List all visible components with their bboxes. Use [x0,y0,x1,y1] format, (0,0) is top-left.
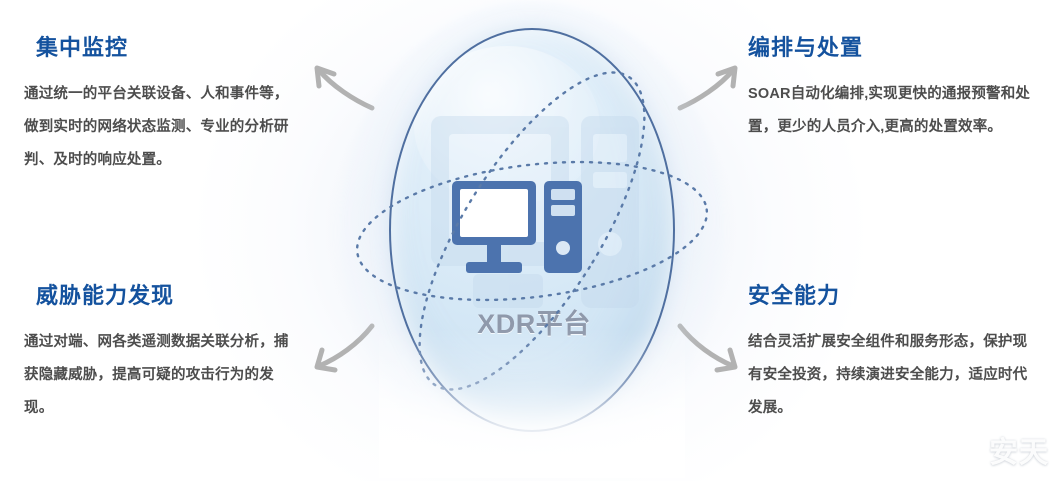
sphere-body: XDR平台 [389,28,675,432]
xdr-platform-label: XDR平台 [391,302,675,341]
panel-orchestration-and-response: 编排与处置 SOAR自动化编排,实现更快的通报预警和处置，更少的人员介入,更高的… [748,30,1038,144]
panel-title-security-capability: 安全能力 [748,278,1040,310]
panel-title-orchestration-and-response: 编排与处置 [748,30,1038,62]
diagram-canvas: 集中监控 通过统一的平台关联设备、人和事件等，做到实时的网络状态监测、专业的分析… [0,0,1063,481]
panel-title-centralized-monitoring: 集中监控 [36,30,299,62]
xdr-platform-sphere: XDR平台 [389,28,675,468]
panel-body-threat-detection-capability: 通过对端、网各类遥测数据关联分析，捕获隐藏威胁，提高可疑的攻击行为的发现。 [24,326,299,425]
panel-body-security-capability: 结合灵活扩展安全组件和服务形态，保护现有安全投资，持续演进安全能力，适应时代发展… [748,326,1040,425]
watermark-text: 安天 [989,429,1049,471]
computer-monitor-and-tower-icon [451,180,583,288]
panel-body-orchestration-and-response: SOAR自动化编排,实现更快的通报预警和处置，更少的人员介入,更高的处置效率。 [748,78,1038,144]
weibo-logo-icon [943,433,983,467]
weibo-watermark: 安天 [943,429,1049,471]
curved-arrow-left-icon-top [292,48,376,112]
panel-security-capability: 安全能力 结合灵活扩展安全组件和服务形态，保护现有安全投资，持续演进安全能力，适… [748,278,1040,425]
panel-threat-detection-capability: 威胁能力发现 通过对端、网各类遥测数据关联分析，捕获隐藏威胁，提高可疑的攻击行为… [24,278,299,425]
panel-centralized-monitoring: 集中监控 通过统一的平台关联设备、人和事件等，做到实时的网络状态监测、专业的分析… [24,30,299,177]
panel-body-centralized-monitoring: 通过统一的平台关联设备、人和事件等，做到实时的网络状态监测、专业的分析研判、及时… [24,78,299,177]
panel-title-threat-detection-capability: 威胁能力发现 [36,278,299,310]
